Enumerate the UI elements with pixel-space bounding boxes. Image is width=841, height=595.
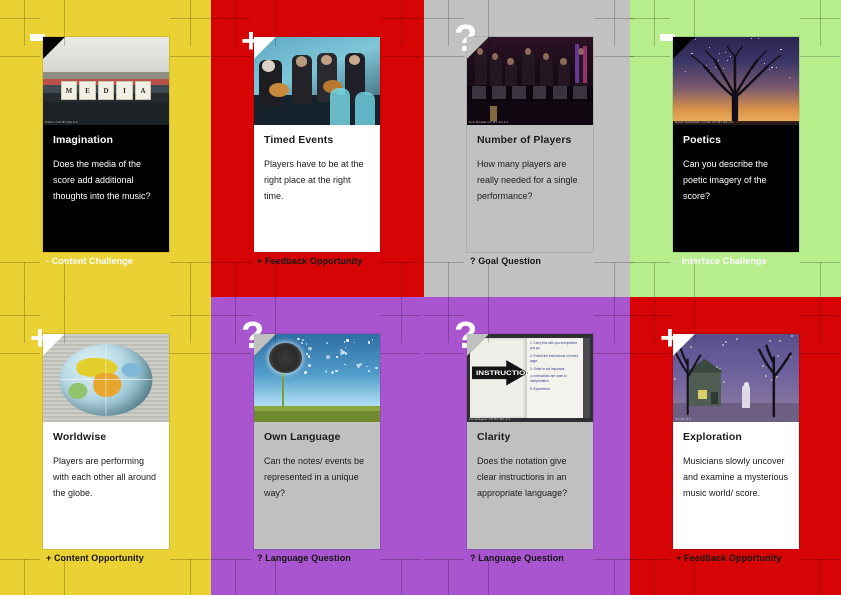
card-title: Exploration — [683, 431, 789, 443]
painted-house-night-trees-photo: CC BY 2.0 — [673, 334, 799, 422]
card-body-text: Can the notes/ events be represented in … — [264, 453, 370, 501]
card-sheet: MEDIA Flickr / CC BY-SA 2.0ImaginationDo… — [0, 0, 841, 595]
guitar-ensemble-stage-photo — [254, 37, 380, 125]
card-panel-exploration[interactable]: + CC BY 2.0ExplorationMusicians slowly u… — [630, 297, 841, 595]
photo-credit: Derek Sebastian Lomas CC BY-SA 2.0 — [675, 120, 733, 124]
card-body-text: Can you describe the poetic imagery of t… — [683, 156, 789, 204]
card-panel-imagination[interactable]: MEDIA Flickr / CC BY-SA 2.0ImaginationDo… — [0, 0, 211, 297]
card-title: Own Language — [264, 431, 370, 443]
card-title: Imagination — [53, 134, 159, 146]
card-title: Poetics — [683, 134, 789, 146]
dandelion-seeds-blowing-photo — [254, 334, 380, 422]
card-panel-worldwise[interactable]: + WorldwisePlayers are performing with e… — [0, 297, 211, 595]
card-clarity[interactable]: INSTRUCTIONS 1. Carry this with you ever… — [467, 334, 593, 549]
card-title: Timed Events — [264, 134, 370, 146]
card-number-of-players[interactable]: Eva Rinaldi CC BY-SA 2.0Number of Player… — [467, 37, 593, 252]
card-footer-label: - Content Challenge — [46, 256, 133, 266]
card-footer-label: - Interface Challenge — [676, 256, 767, 266]
card-body-text: Does the media of the score add addition… — [53, 156, 159, 204]
card-footer-label: ? Language Question — [470, 553, 564, 563]
card-panel-timed-events[interactable]: + Timed EventsPlayers have to be at the … — [211, 0, 424, 297]
card-panel-number-of-players[interactable]: ? Eva Rinaldi CC BY-SA 2.0Number of Play… — [424, 0, 630, 297]
card-title: Clarity — [477, 431, 583, 443]
card-title: Worldwise — [53, 431, 159, 443]
bare-tree-at-dusk-photo: Derek Sebastian Lomas CC BY-SA 2.0 — [673, 37, 799, 125]
card-panel-clarity[interactable]: ? INSTRUCTIONS 1. Carry this with you ev… — [424, 297, 630, 595]
card-panel-poetics[interactable]: Derek Sebastian Lomas CC BY-SA 2.0Poetic… — [630, 0, 841, 297]
photo-credit: Ira Aldeguer CC BY-NC 2.0 — [469, 417, 510, 421]
card-body-text: Does the notation give clear instruction… — [477, 453, 583, 501]
card-body-text: Players are performing with each other a… — [53, 453, 159, 501]
photo-credit: Flickr / CC BY-SA 2.0 — [45, 120, 78, 124]
card-body-text: Players have to be at the right place at… — [264, 156, 370, 204]
card-title: Number of Players — [477, 134, 583, 146]
card-body-text: Musicians slowly uncover and examine a m… — [683, 453, 789, 501]
card-footer-label: + Feedback Opportunity — [257, 256, 362, 266]
card-footer-label: ? Goal Question — [470, 256, 541, 266]
globe-ball-photo — [43, 334, 169, 422]
card-imagination[interactable]: MEDIA Flickr / CC BY-SA 2.0ImaginationDo… — [43, 37, 169, 252]
big-band-orchestra-photo: Eva Rinaldi CC BY-SA 2.0 — [467, 37, 593, 125]
card-worldwise[interactable]: WorldwisePlayers are performing with eac… — [43, 334, 169, 549]
card-footer-label: + Feedback Opportunity — [676, 553, 781, 563]
card-poetics[interactable]: Derek Sebastian Lomas CC BY-SA 2.0Poetic… — [673, 37, 799, 252]
card-own-language[interactable]: Own LanguageCan the notes/ events be rep… — [254, 334, 380, 549]
card-footer-label: + Content Opportunity — [46, 553, 144, 563]
card-timed-events[interactable]: Timed EventsPlayers have to be at the ri… — [254, 37, 380, 252]
media-scrabble-tiles-photo: MEDIA Flickr / CC BY-SA 2.0 — [43, 37, 169, 125]
svg-text:INSTRUCTIONS: INSTRUCTIONS — [476, 369, 532, 377]
photo-credit: CC BY 2.0 — [675, 417, 691, 421]
card-body-text: How many players are really needed for a… — [477, 156, 583, 204]
card-panel-own-language[interactable]: ? Own LanguageCan the notes/ events be r… — [211, 297, 424, 595]
card-footer-label: ? Language Question — [257, 553, 351, 563]
photo-credit: Eva Rinaldi CC BY-SA 2.0 — [469, 120, 509, 124]
card-exploration[interactable]: CC BY 2.0ExplorationMusicians slowly unc… — [673, 334, 799, 549]
instructions-notebook-arrow-photo: INSTRUCTIONS 1. Carry this with you ever… — [467, 334, 593, 422]
